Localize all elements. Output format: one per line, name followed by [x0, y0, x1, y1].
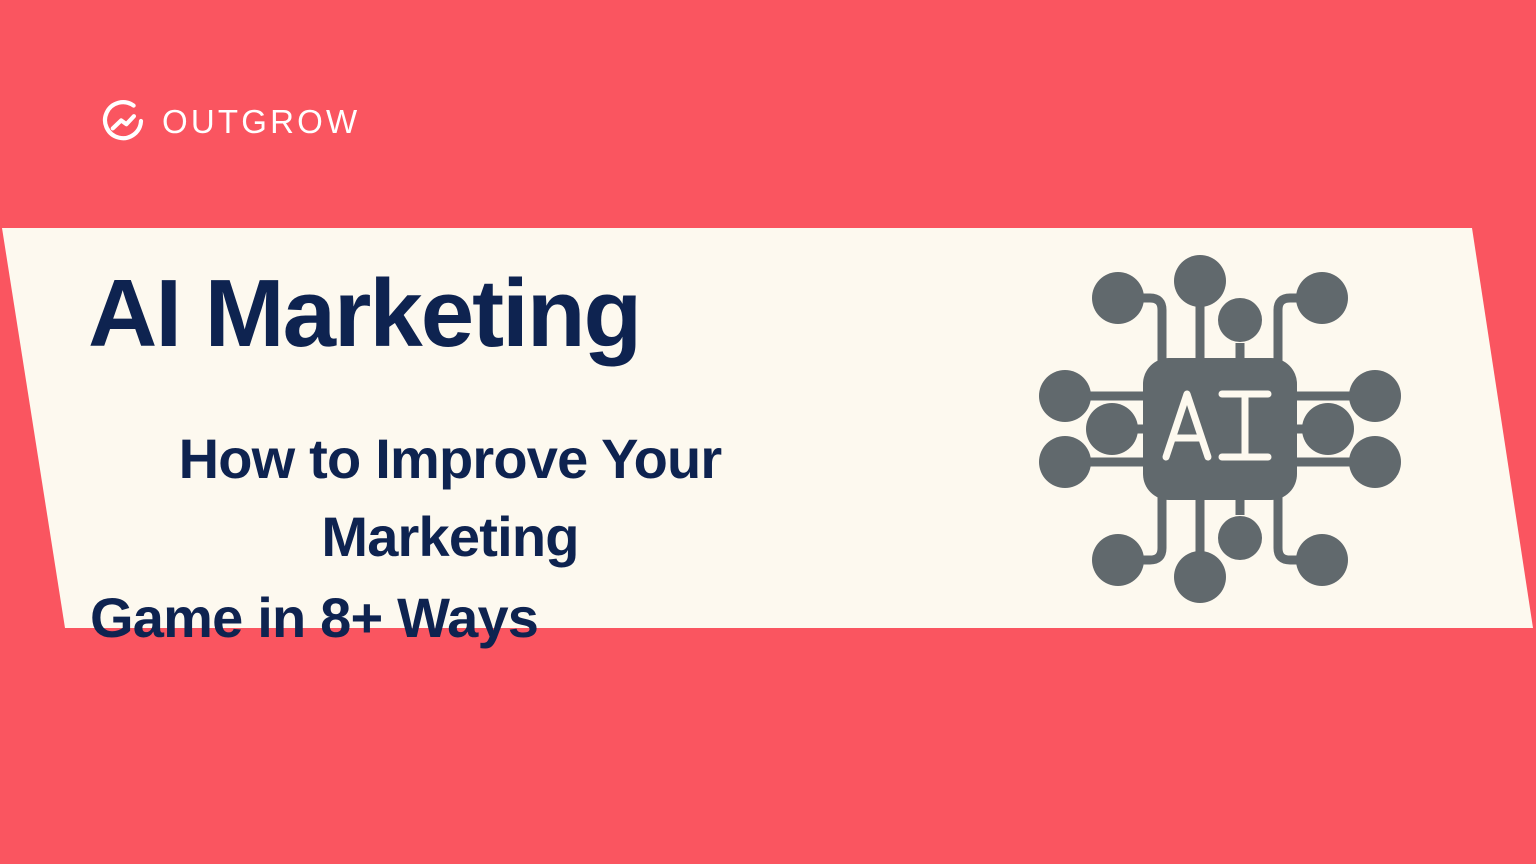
ai-chip-illustration [1030, 248, 1410, 610]
chip-body [1143, 358, 1297, 500]
brand-logo[interactable]: OUTGROW [100, 92, 360, 150]
outgrow-circle-arrow-icon [100, 98, 146, 144]
ai-chip-icon [1030, 248, 1410, 610]
poster-canvas: OUTGROW AI Marketing How to Improve Your… [0, 0, 1536, 864]
brand-wordmark: OUTGROW [162, 105, 360, 138]
